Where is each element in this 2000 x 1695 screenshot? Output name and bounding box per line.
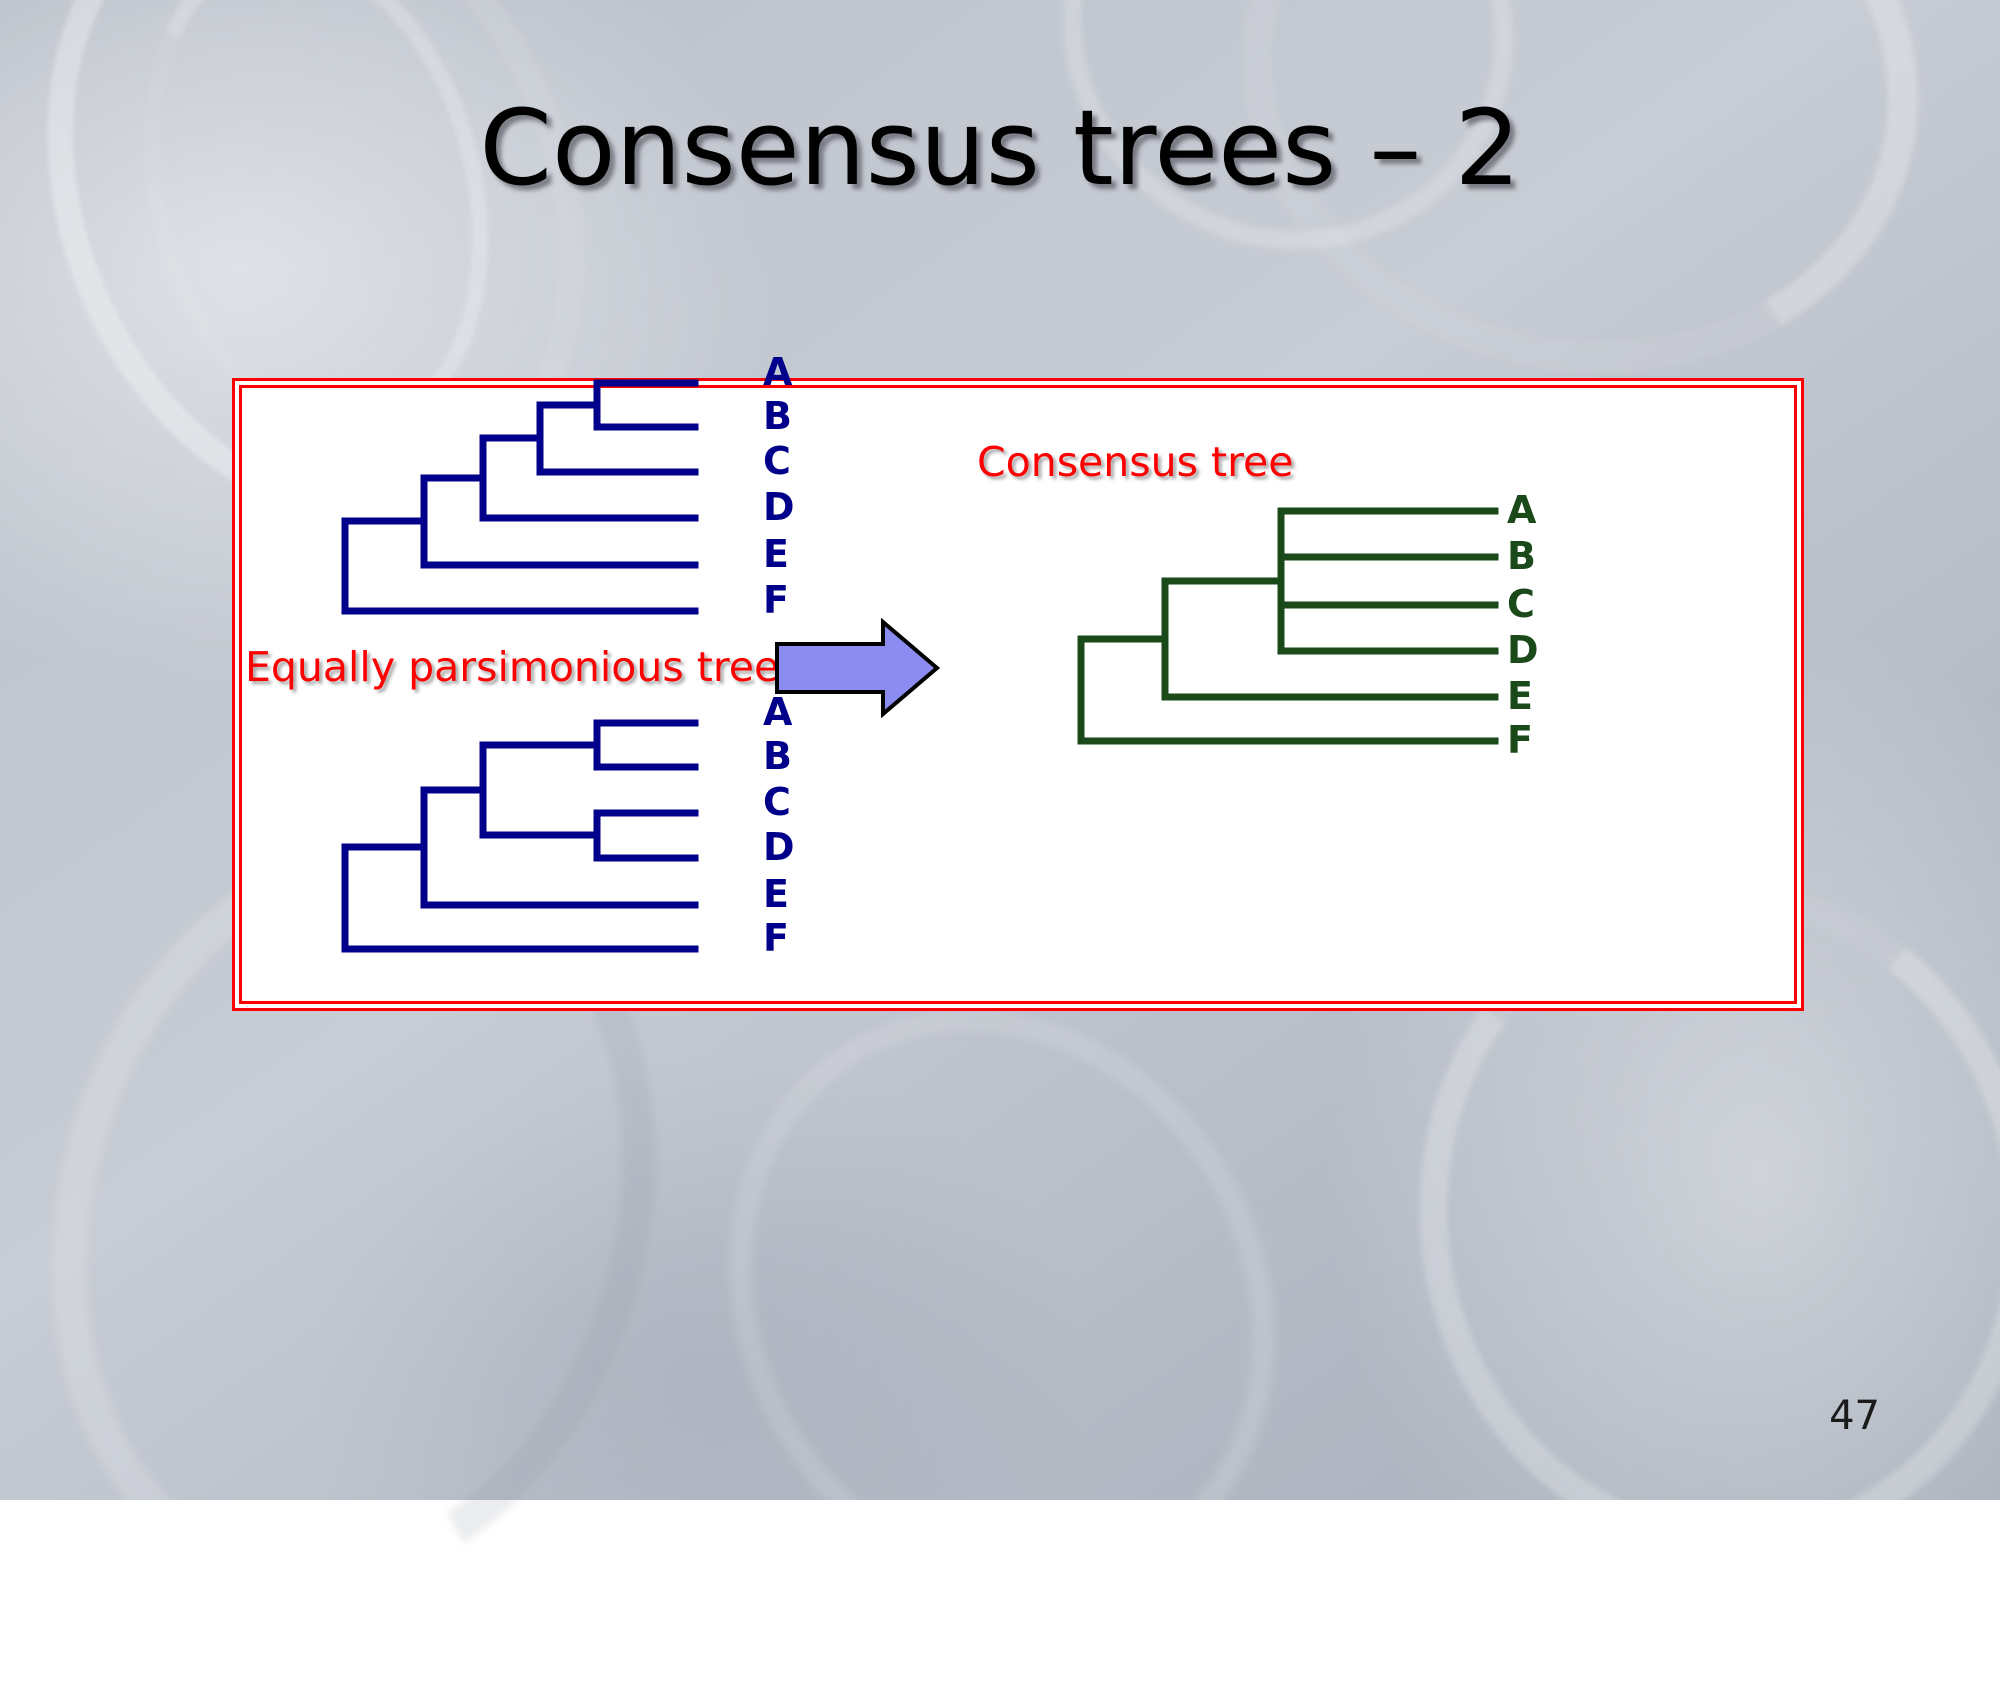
consensus-taxon-label-f: F [1507,721,1533,759]
caption-consensus-tree: Consensus tree [977,439,1294,485]
consensus-taxon-label-d: D [1507,631,1539,669]
transform-arrow-icon [773,618,941,718]
tree2-taxon-label-c: C [763,783,791,821]
consensus-taxon-label-e: E [1507,677,1533,715]
page-number: 47 [1829,1394,1880,1438]
consensus-taxon-label-c: C [1507,585,1535,623]
consensus-tree-graphic [965,499,1525,749]
tree1-taxon-label-f: F [763,581,789,619]
consensus-taxon-label-a: A [1507,491,1536,529]
background-swirl-6 [624,909,1380,1694]
slide-canvas: Consensus trees – 2 [0,0,2000,1500]
equally-parsimonious-tree-1-graphic [295,371,835,631]
tree1-taxon-label-e: E [763,535,789,573]
tree1-taxon-label-d: D [763,488,795,526]
tree2-taxon-label-d: D [763,828,795,866]
content-panel: A B C D E F Equally parsimonious trees [232,378,1804,1011]
tree1-taxon-label-a: A [763,353,792,391]
caption-equally-parsimonious-trees: Equally parsimonious trees [245,644,801,690]
background-swirl-3 [1187,0,1973,434]
equally-parsimonious-tree-2-graphic [295,711,835,961]
slide-title: Consensus trees – 2 [0,92,2000,204]
consensus-taxon-label-b: B [1507,537,1536,575]
tree2-taxon-label-f: F [763,919,789,957]
tree1-taxon-label-b: B [763,397,792,435]
tree1-taxon-label-c: C [763,442,791,480]
tree2-taxon-label-b: B [763,737,792,775]
tree2-taxon-label-e: E [763,875,789,913]
